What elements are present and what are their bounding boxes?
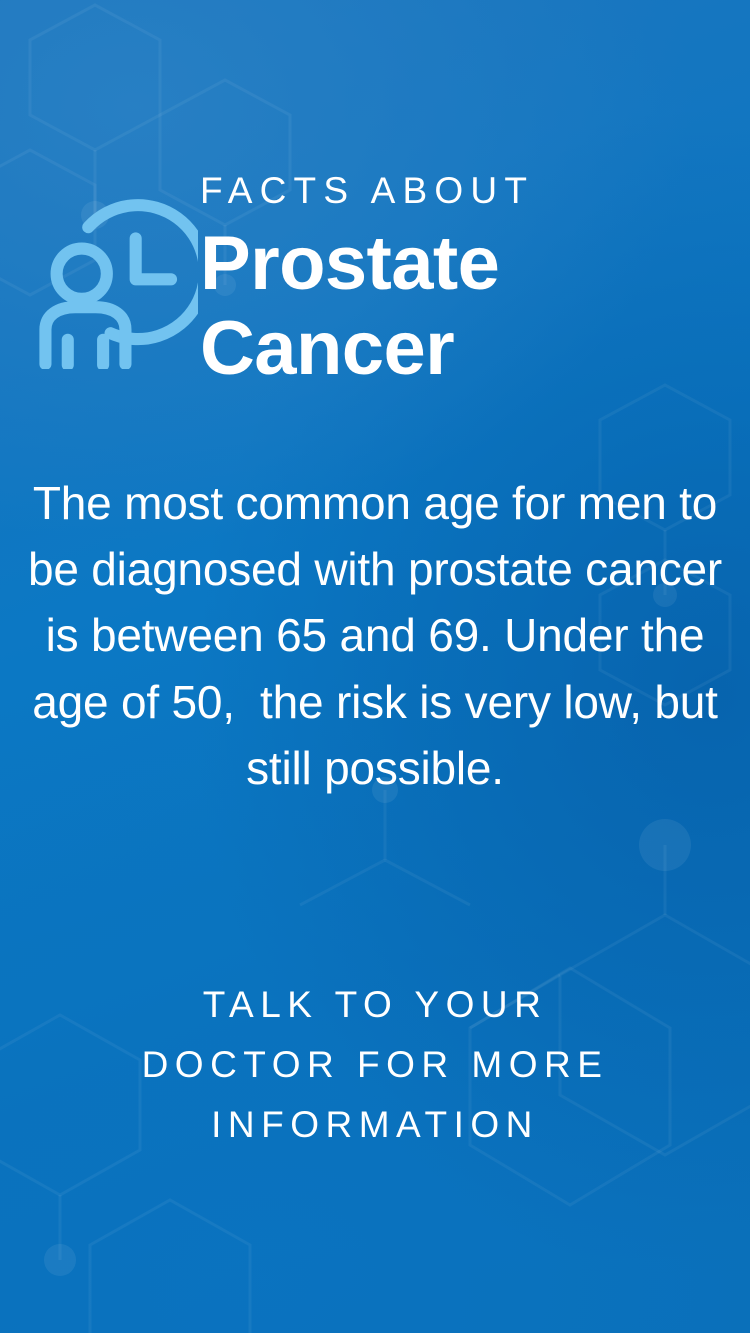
- headline-line-2: Cancer: [200, 306, 534, 391]
- header: FACTS ABOUT Prostate Cancer: [0, 168, 750, 391]
- cta-line-3: INFORMATION: [0, 1095, 750, 1155]
- call-to-action: TALK TO YOUR DOCTOR FOR MORE INFORMATION: [0, 975, 750, 1155]
- cta-line-2: DOCTOR FOR MORE: [0, 1035, 750, 1095]
- person-with-clock-icon: [0, 168, 200, 369]
- header-text-block: FACTS ABOUT Prostate Cancer: [200, 168, 534, 391]
- poster-content: FACTS ABOUT Prostate Cancer The most com…: [0, 0, 750, 1333]
- page-title: Prostate Cancer: [200, 221, 534, 391]
- body-paragraph: The most common age for men to be diagno…: [0, 470, 750, 801]
- poster-root: FACTS ABOUT Prostate Cancer The most com…: [0, 0, 750, 1333]
- headline-line-1: Prostate: [200, 221, 534, 306]
- eyebrow-label: FACTS ABOUT: [200, 172, 534, 209]
- cta-line-1: TALK TO YOUR: [0, 975, 750, 1035]
